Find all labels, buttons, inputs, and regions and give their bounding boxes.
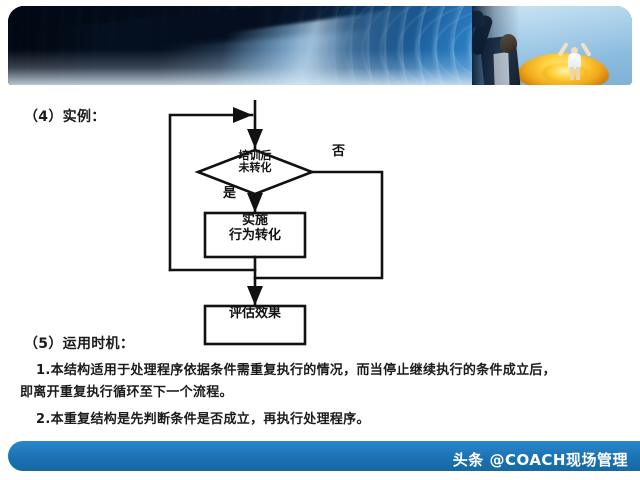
flow-edge-loopback bbox=[170, 115, 252, 270]
branch-label-yes: 是 bbox=[223, 187, 236, 202]
section-label-example: （4）实例： bbox=[24, 106, 106, 126]
footer-watermark-text: 头条 @COACH现场管理 bbox=[453, 449, 628, 470]
body-paragraph-line-3: 2.本重复结构是先判断条件是否成立，再执行处理程序。 bbox=[36, 408, 370, 427]
banner-photo-blend-fade bbox=[472, 6, 632, 85]
body-paragraph-line-2: 即离开重复执行循环至下一个流程。 bbox=[20, 381, 233, 400]
body-paragraph-line-1: 1.本结构适用于处理程序依据条件需重复执行的情况，而当停止继续执行的条件成立后， bbox=[36, 359, 556, 378]
header-banner-image bbox=[8, 6, 632, 85]
branch-label-no: 否 bbox=[332, 145, 345, 160]
result-box-label: 评估效果 bbox=[205, 307, 305, 322]
decision-label-line2: 未转化 bbox=[239, 161, 272, 174]
decision-diamond-label: 培训后 未转化 bbox=[212, 150, 298, 175]
result-label-line1: 评估效果 bbox=[229, 306, 281, 321]
action-label-line1: 实施 bbox=[242, 213, 268, 228]
banner-photo-montage bbox=[472, 6, 632, 85]
section-label-timing: （5）运用时机： bbox=[24, 333, 134, 353]
slide-canvas: （4）实例： bbox=[0, 0, 640, 480]
flowchart-diagram: 培训后 未转化 实施 行为转化 评估效果 否 是 bbox=[160, 100, 420, 350]
action-box-label: 实施 行为转化 bbox=[205, 214, 305, 243]
action-label-line2: 行为转化 bbox=[229, 228, 281, 243]
